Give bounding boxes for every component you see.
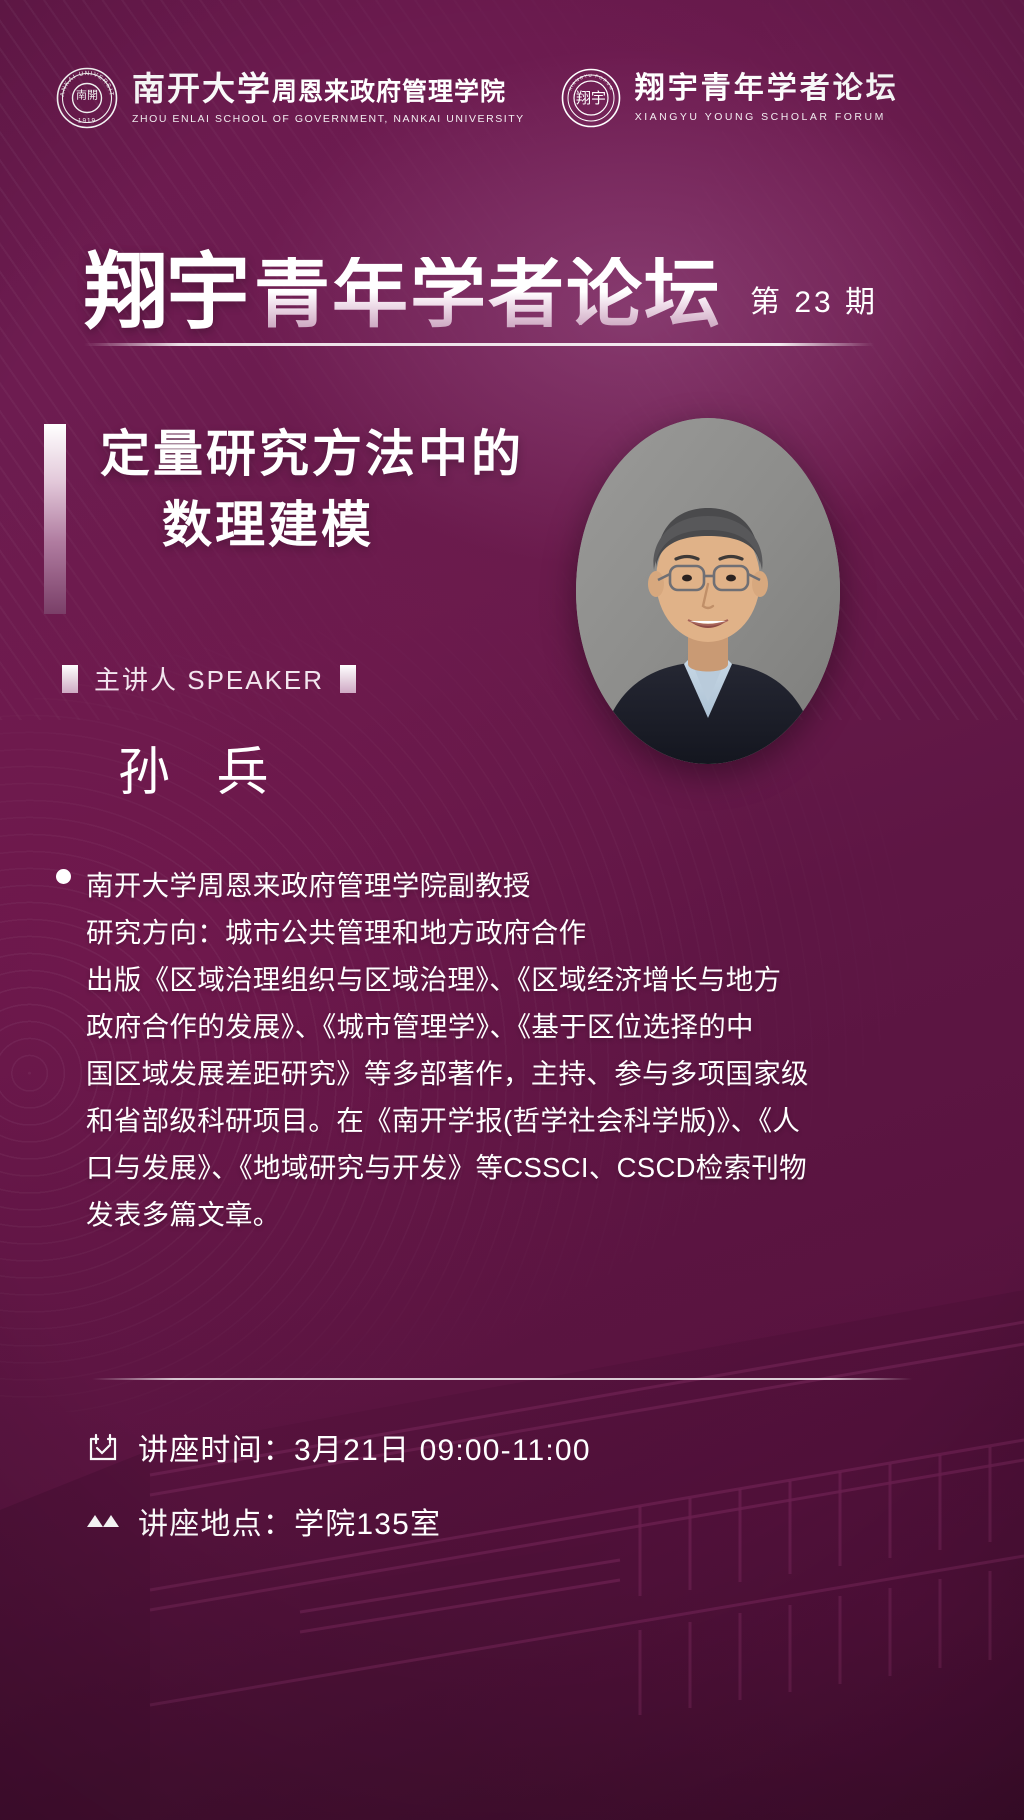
event-time-text: 讲座时间：3月21日 09:00-11:00: [138, 1425, 591, 1469]
seal-center-text: 南開: [76, 89, 98, 102]
bio-line: 和省部级科研项目。在《南开学报(哲学社会科学版)》、《人: [86, 1097, 856, 1144]
bio-lines: 南开大学周恩来政府管理学院副教授 研究方向：城市公共管理和地方政府合作 出版《区…: [86, 862, 856, 1238]
xiangyu-cn-main: 翔宇青年学者论坛: [635, 73, 899, 105]
seal-year-text: 1919: [78, 118, 96, 125]
xiangyu-seal-center: 翔宇: [576, 89, 606, 107]
speaker-tag-mark-right: [340, 665, 356, 693]
nankai-brand-text: 南开大学周恩来政府管理学院 ZHOU ENLAI SCHOOL OF GOVER…: [132, 71, 525, 124]
xiangyu-forum-seal-icon: 翔宇 XIANGYU FORUM: [561, 68, 621, 128]
bio-line: 发表多篇文章。: [86, 1191, 856, 1238]
event-place-text: 讲座地点：学院135室: [138, 1499, 441, 1543]
headline-underline: [84, 343, 874, 346]
event-info: 讲座时间：3月21日 09:00-11:00 讲座地点：学院135室: [80, 1410, 940, 1558]
bio-line: 政府合作的发展》、《城市管理学》、《基于区位选择的中: [86, 1003, 856, 1050]
nankai-cn-main: 南开大学: [132, 69, 272, 108]
speaker-name: 孙 兵: [118, 730, 284, 805]
speaker-tag: 主讲人 SPEAKER: [62, 660, 356, 697]
issue-number: 第 23 期: [750, 277, 878, 333]
xiangyu-brand-text: 翔宇青年学者论坛 XIANGYU YOUNG SCHOLAR FORUM: [635, 73, 899, 122]
speaker-bio: 南开大学周恩来政府管理学院副教授 研究方向：城市公共管理和地方政府合作 出版《区…: [56, 862, 856, 1238]
speaker-tag-label: 主讲人 SPEAKER: [94, 660, 324, 697]
lecture-accent-bar: [44, 424, 66, 614]
bio-bullet-icon: [56, 869, 71, 884]
bio-line: 口与发展》、《地域研究与开发》等CSSCI、CSCD检索刊物: [86, 1144, 856, 1191]
event-place-row: 讲座地点：学院135室: [80, 1484, 940, 1558]
speaker-portrait-image: [576, 418, 840, 764]
nankai-en-sub: ZHOU ENLAI SCHOOL OF GOVERNMENT, NANKAI …: [132, 113, 525, 125]
event-place-label: 讲座地点：: [138, 1508, 294, 1541]
lecture-title-block: 定量研究方法中的 数理建模: [44, 418, 604, 614]
lecture-title-line1: 定量研究方法中的: [100, 424, 524, 483]
event-time-value: 3月21日 09:00-11:00: [294, 1434, 591, 1467]
forum-headline: 翔宇 青年学者论坛 第 23 期: [84, 252, 944, 346]
event-time-label: 讲座时间：: [138, 1434, 294, 1467]
event-time-row: 讲座时间：3月21日 09:00-11:00: [80, 1410, 940, 1484]
poster-header: 南開 NANKAI UNIVERSITY 1919 南开大学周恩来政府管理学院 …: [0, 52, 1024, 144]
speaker-tag-mark-left: [62, 665, 78, 693]
nankai-cn-sub: 周恩来政府管理学院: [272, 78, 506, 106]
xiangyu-brand: 翔宇 XIANGYU FORUM 翔宇青年学者论坛 XIANGYU YOUNG …: [561, 68, 899, 128]
bio-line: 国区域发展差距研究》等多部著作，主持、参与多项国家级: [86, 1050, 856, 1097]
forum-logo-chars: 翔宇: [84, 252, 248, 333]
xiangyu-en-sub: XIANGYU YOUNG SCHOLAR FORUM: [635, 111, 899, 123]
bio-line: 出版《区域治理组织与区域治理》、《区域经济增长与地方: [86, 956, 856, 1003]
poster-background: 南開 NANKAI UNIVERSITY 1919 南开大学周恩来政府管理学院 …: [0, 0, 1024, 1820]
bio-line: 研究方向：城市公共管理和地方政府合作: [86, 909, 856, 956]
bio-line: 南开大学周恩来政府管理学院副教授: [86, 862, 856, 909]
nankai-university-seal-icon: 南開 NANKAI UNIVERSITY 1919: [56, 67, 118, 129]
location-mountains-icon: [80, 1502, 126, 1540]
forum-title-chars: 青年学者论坛: [254, 257, 722, 333]
speaker-portrait: [576, 418, 840, 764]
nankai-cn-line: 南开大学周恩来政府管理学院: [132, 71, 525, 107]
lecture-title: 定量研究方法中的 数理建模: [100, 418, 524, 614]
nankai-brand: 南開 NANKAI UNIVERSITY 1919 南开大学周恩来政府管理学院 …: [56, 67, 525, 129]
footer-divider: [92, 1378, 912, 1380]
calendar-icon: [80, 1428, 126, 1466]
event-place-value: 学院135室: [294, 1508, 441, 1541]
lecture-title-line2: 数理建模: [100, 489, 524, 560]
forum-headline-row: 翔宇 青年学者论坛 第 23 期: [84, 252, 944, 333]
